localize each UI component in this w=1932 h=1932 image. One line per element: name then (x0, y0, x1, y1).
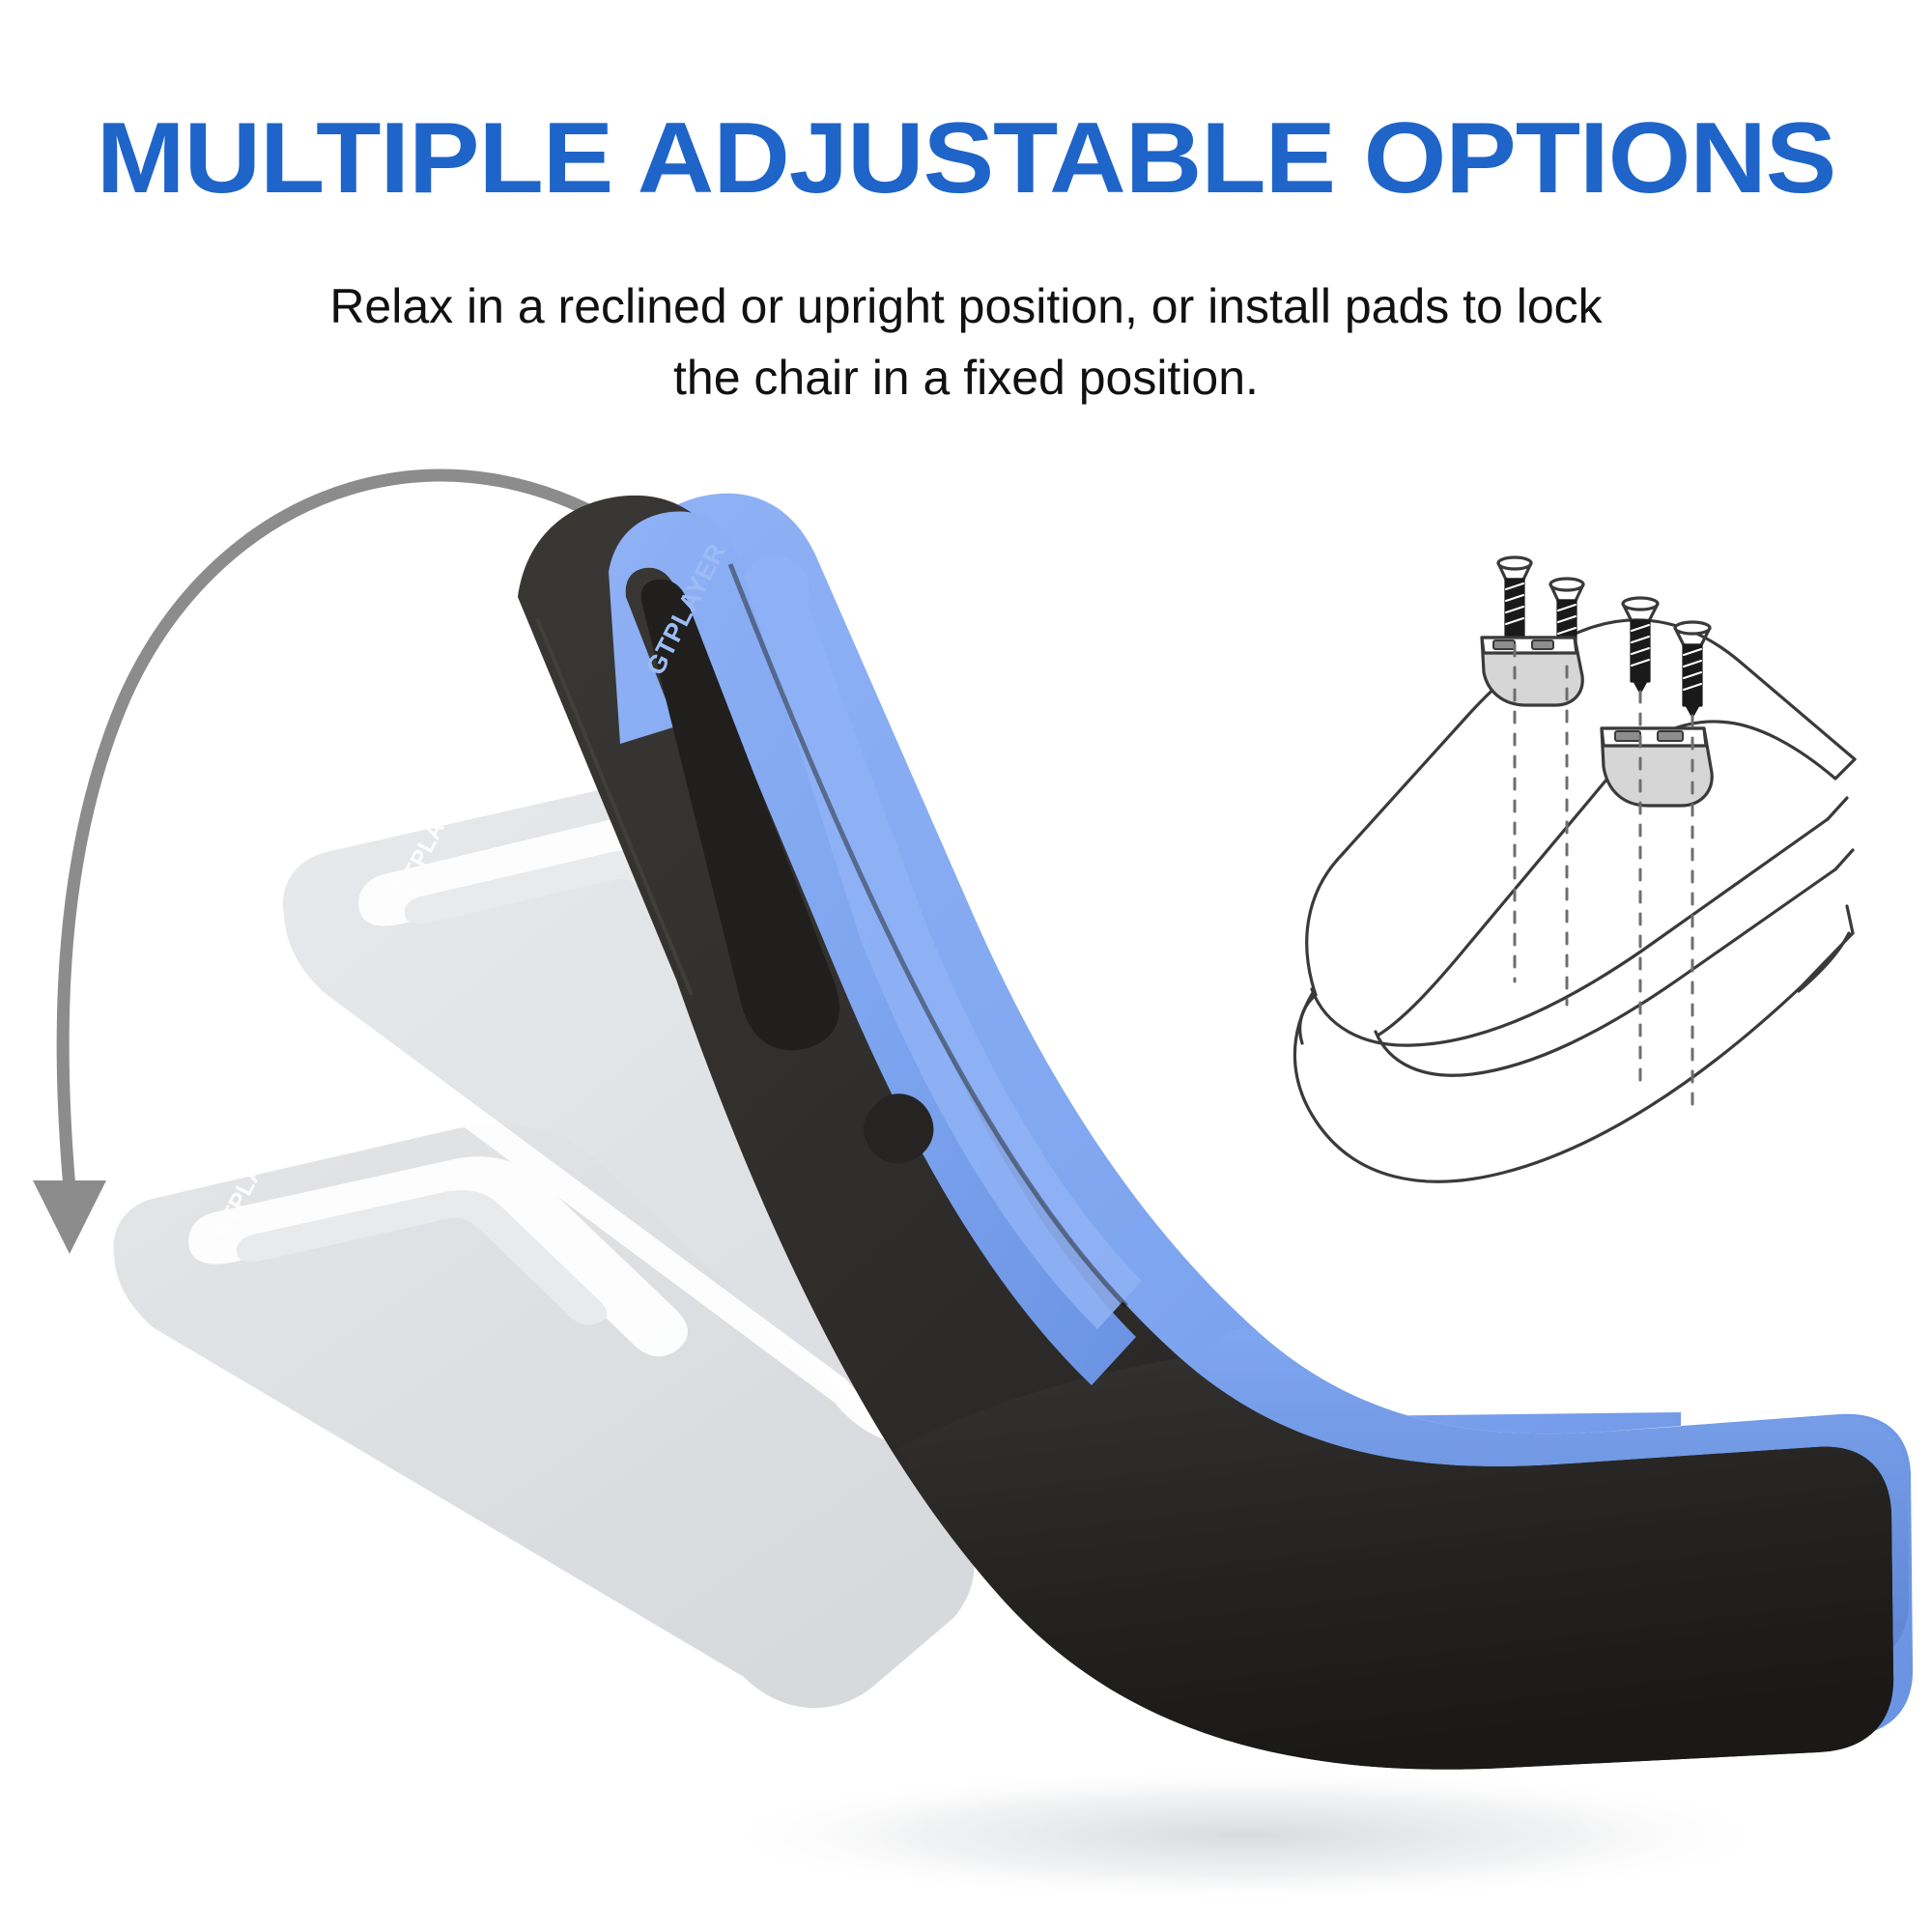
subtitle-line-1: Relax in a reclined or upright position,… (329, 279, 1602, 333)
screw-icon (1675, 622, 1710, 716)
arrowhead-down-icon (33, 1180, 106, 1254)
page-subtitle: Relax in a reclined or upright position,… (241, 270, 1690, 413)
brand-logo-active: GTPLAYER (640, 539, 732, 680)
brand-logo-ghost-mid: GTPLAYER (390, 775, 472, 901)
ghost-chair-mid (259, 761, 1111, 1446)
screw-icon (1550, 579, 1583, 667)
active-chair (518, 494, 1913, 1903)
product-marketing-image: MULTIPLE ADJUSTABLE OPTIONS Relax in a r… (0, 0, 1932, 1932)
page-title: MULTIPLE ADJUSTABLE OPTIONS (0, 108, 1932, 209)
screw-icon (1498, 557, 1531, 645)
lock-pad-assembly-diagram (1294, 557, 1855, 1181)
screw-icon (1623, 598, 1658, 692)
brand-logo-ghost-reclined: GTPLAYER (209, 1118, 291, 1244)
lock-pad-icon (1602, 728, 1712, 806)
recline-rotation-arrow (33, 475, 709, 1254)
assembly-guide-lines (1515, 645, 1692, 1111)
subtitle-line-2: the chair in a fixed position. (241, 342, 1690, 413)
lock-pad-icon (1482, 638, 1582, 705)
